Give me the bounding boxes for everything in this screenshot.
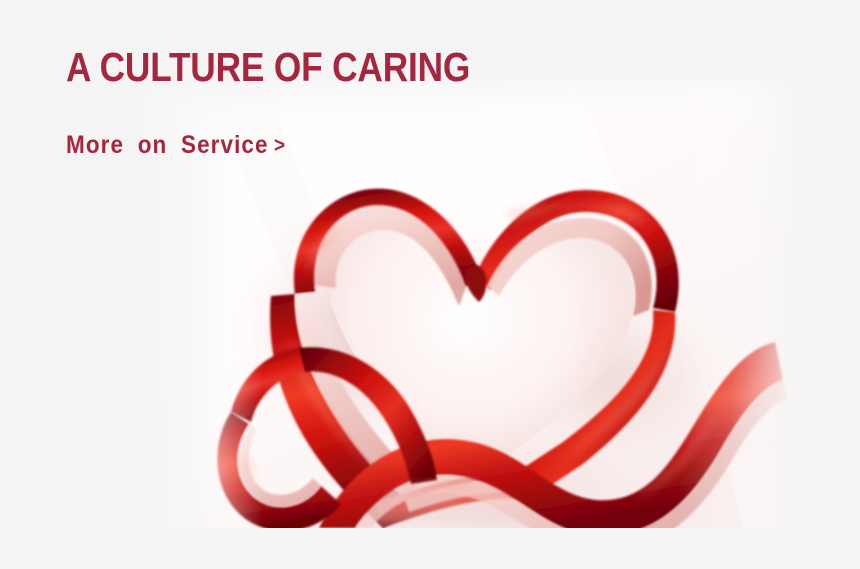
banner-text-block: A CULTURE OF CARING More on Service>	[66, 44, 536, 161]
culture-of-caring-banner: A CULTURE OF CARING More on Service>	[0, 0, 860, 569]
page-title: A CULTURE OF CARING	[66, 44, 470, 90]
chevron-right-icon: >	[274, 131, 286, 161]
more-on-service-link[interactable]: More on Service>	[66, 130, 286, 161]
more-on-service-label: More on Service	[66, 131, 269, 159]
